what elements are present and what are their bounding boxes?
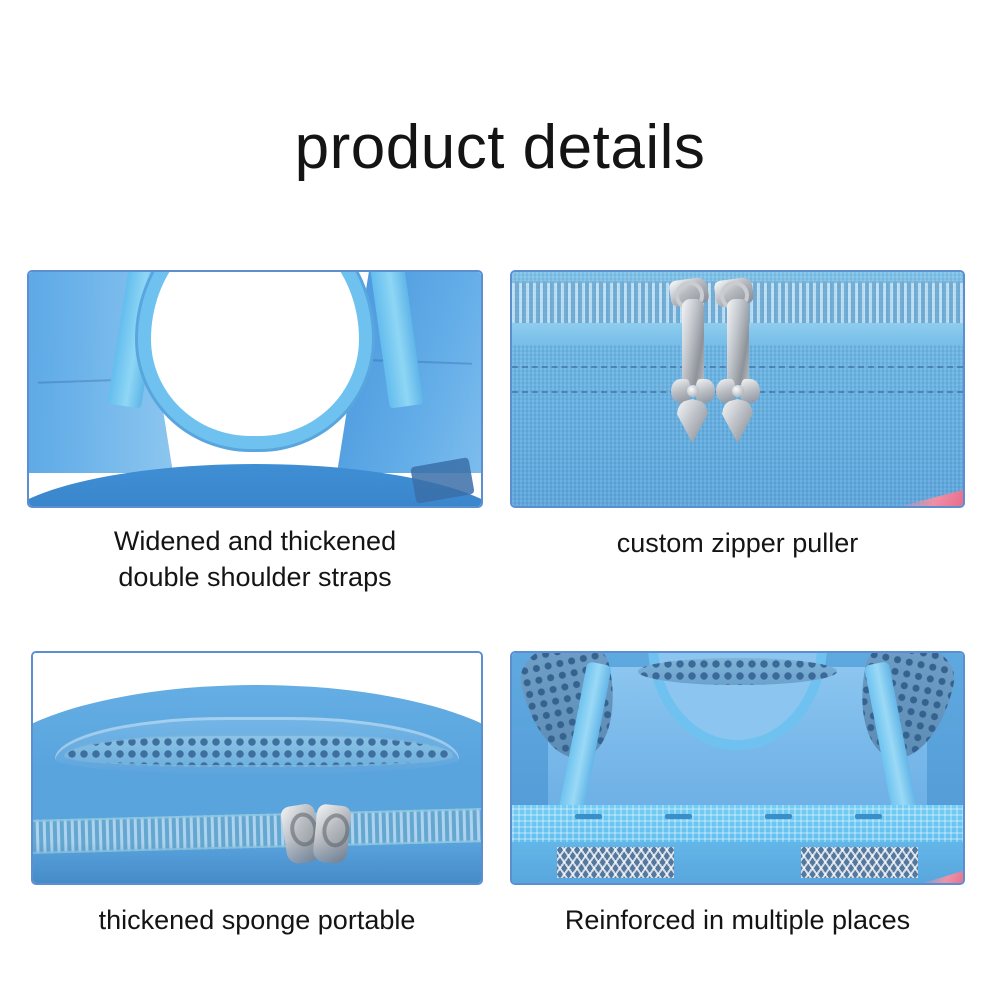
bag-shadow [33, 842, 481, 883]
product-photo-sponge-handle [33, 653, 481, 883]
reinforcement-band [512, 805, 963, 846]
mesh-vent-left [557, 847, 674, 878]
caption-line-2: double shoulder straps [27, 560, 483, 596]
photo-frame-reinforced [510, 651, 965, 885]
bar-tack-3 [765, 814, 792, 819]
caption-line-1: thickened sponge portable [31, 903, 483, 939]
feature-card-zipper-puller[interactable]: custom zipper puller [510, 270, 965, 562]
product-photo-reinforced [512, 653, 963, 883]
mesh-vent-right [801, 847, 918, 878]
product-photo-zipper-puller [512, 272, 963, 506]
product-photo-shoulder-straps [29, 272, 481, 506]
handle-sponge-mesh [64, 734, 453, 768]
photo-frame-zipper-puller [510, 270, 965, 508]
product-details-page: product details Widened and [0, 0, 1000, 1000]
feature-card-sponge-handle[interactable]: thickened sponge portable [31, 651, 483, 939]
bow-knot [687, 385, 699, 397]
zipper-tab-left [682, 299, 704, 385]
caption-line-1: custom zipper puller [510, 526, 965, 562]
photo-frame-sponge-handle [31, 651, 483, 885]
feature-card-grid: Widened and thickened double shoulder st… [0, 0, 1000, 1000]
zipper-tab-right [727, 299, 749, 385]
strap-opening [151, 272, 359, 436]
bar-tack-4 [855, 814, 882, 819]
feature-caption-reinforced: Reinforced in multiple places [510, 903, 965, 939]
photo-frame-shoulder-straps [27, 270, 483, 508]
feature-card-shoulder-straps[interactable]: Widened and thickened double shoulder st… [27, 270, 483, 595]
bar-tack-2 [665, 814, 692, 819]
bow-knot [732, 385, 744, 397]
caption-line-1: Reinforced in multiple places [510, 903, 965, 939]
feature-caption-shoulder-straps: Widened and thickened double shoulder st… [27, 524, 483, 595]
feature-card-reinforced[interactable]: Reinforced in multiple places [510, 651, 965, 939]
bottom-mesh-row [512, 842, 963, 883]
feature-caption-zipper-puller: custom zipper puller [510, 526, 965, 562]
feature-caption-sponge-handle: thickened sponge portable [31, 903, 483, 939]
bar-tack-1 [575, 814, 602, 819]
caption-line-1: Widened and thickened [27, 524, 483, 560]
top-handle-mesh [638, 658, 836, 686]
